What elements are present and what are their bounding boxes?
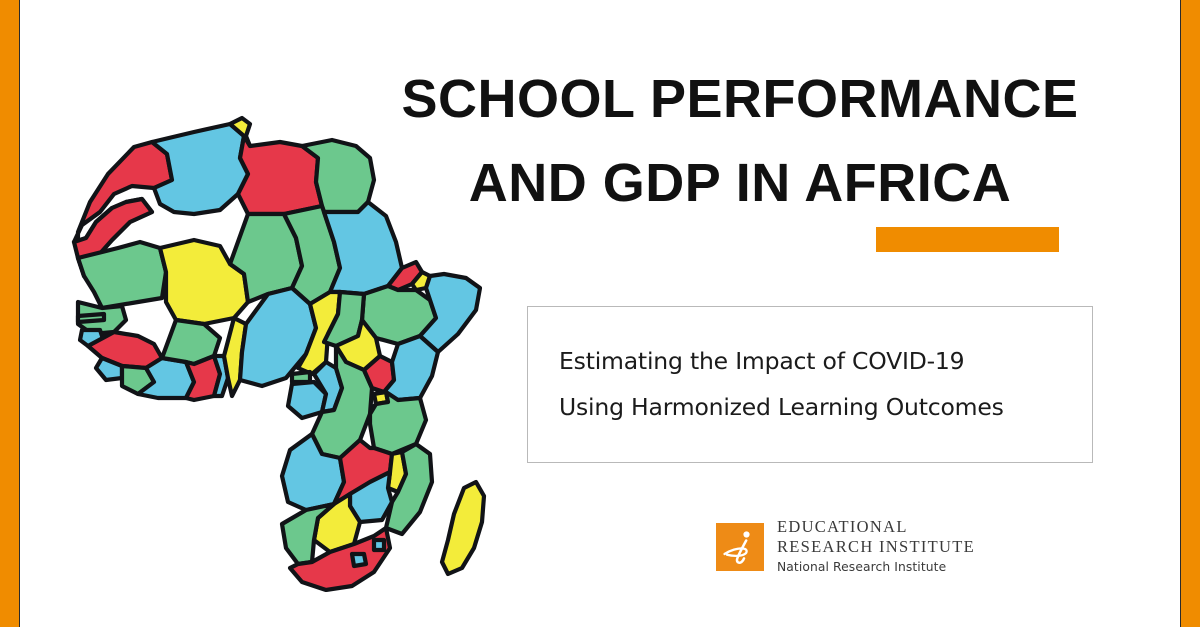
logo-line-1: EDUCATIONAL [777, 517, 975, 537]
title-line-2: AND GDP IN AFRICA [400, 142, 1080, 226]
orange-accent-bar [876, 227, 1059, 252]
map-region-equatorial-guinea [292, 372, 310, 382]
map-region-madagascar [442, 482, 484, 574]
slide-canvas: SCHOOL PERFORMANCE AND GDP IN AFRICA Est… [0, 0, 1200, 627]
subtitle-line-2: Using Harmonized Learning Outcomes [559, 385, 1076, 431]
organization-logo: EDUCATIONAL RESEARCH INSTITUTE National … [716, 517, 975, 577]
logo-line-3: National Research Institute [777, 558, 975, 576]
logo-text-block: EDUCATIONAL RESEARCH INSTITUTE National … [777, 517, 975, 577]
map-region-lesotho [352, 554, 366, 566]
map-region-eswatini [374, 540, 384, 550]
map-region-kenya [384, 336, 438, 400]
page-title: SCHOOL PERFORMANCE AND GDP IN AFRICA [400, 58, 1080, 225]
logo-line-2: RESEARCH INSTITUTE [777, 537, 975, 557]
subtitle-line-1: Estimating the Impact of COVID-19 [559, 339, 1076, 385]
title-line-1: SCHOOL PERFORMANCE [400, 58, 1080, 142]
institute-emblem-icon [716, 523, 764, 571]
right-orange-border [1180, 0, 1200, 627]
left-orange-border [0, 0, 20, 627]
map-region-gambia [78, 314, 104, 322]
subtitle-box: Estimating the Impact of COVID-19 Using … [527, 306, 1093, 463]
